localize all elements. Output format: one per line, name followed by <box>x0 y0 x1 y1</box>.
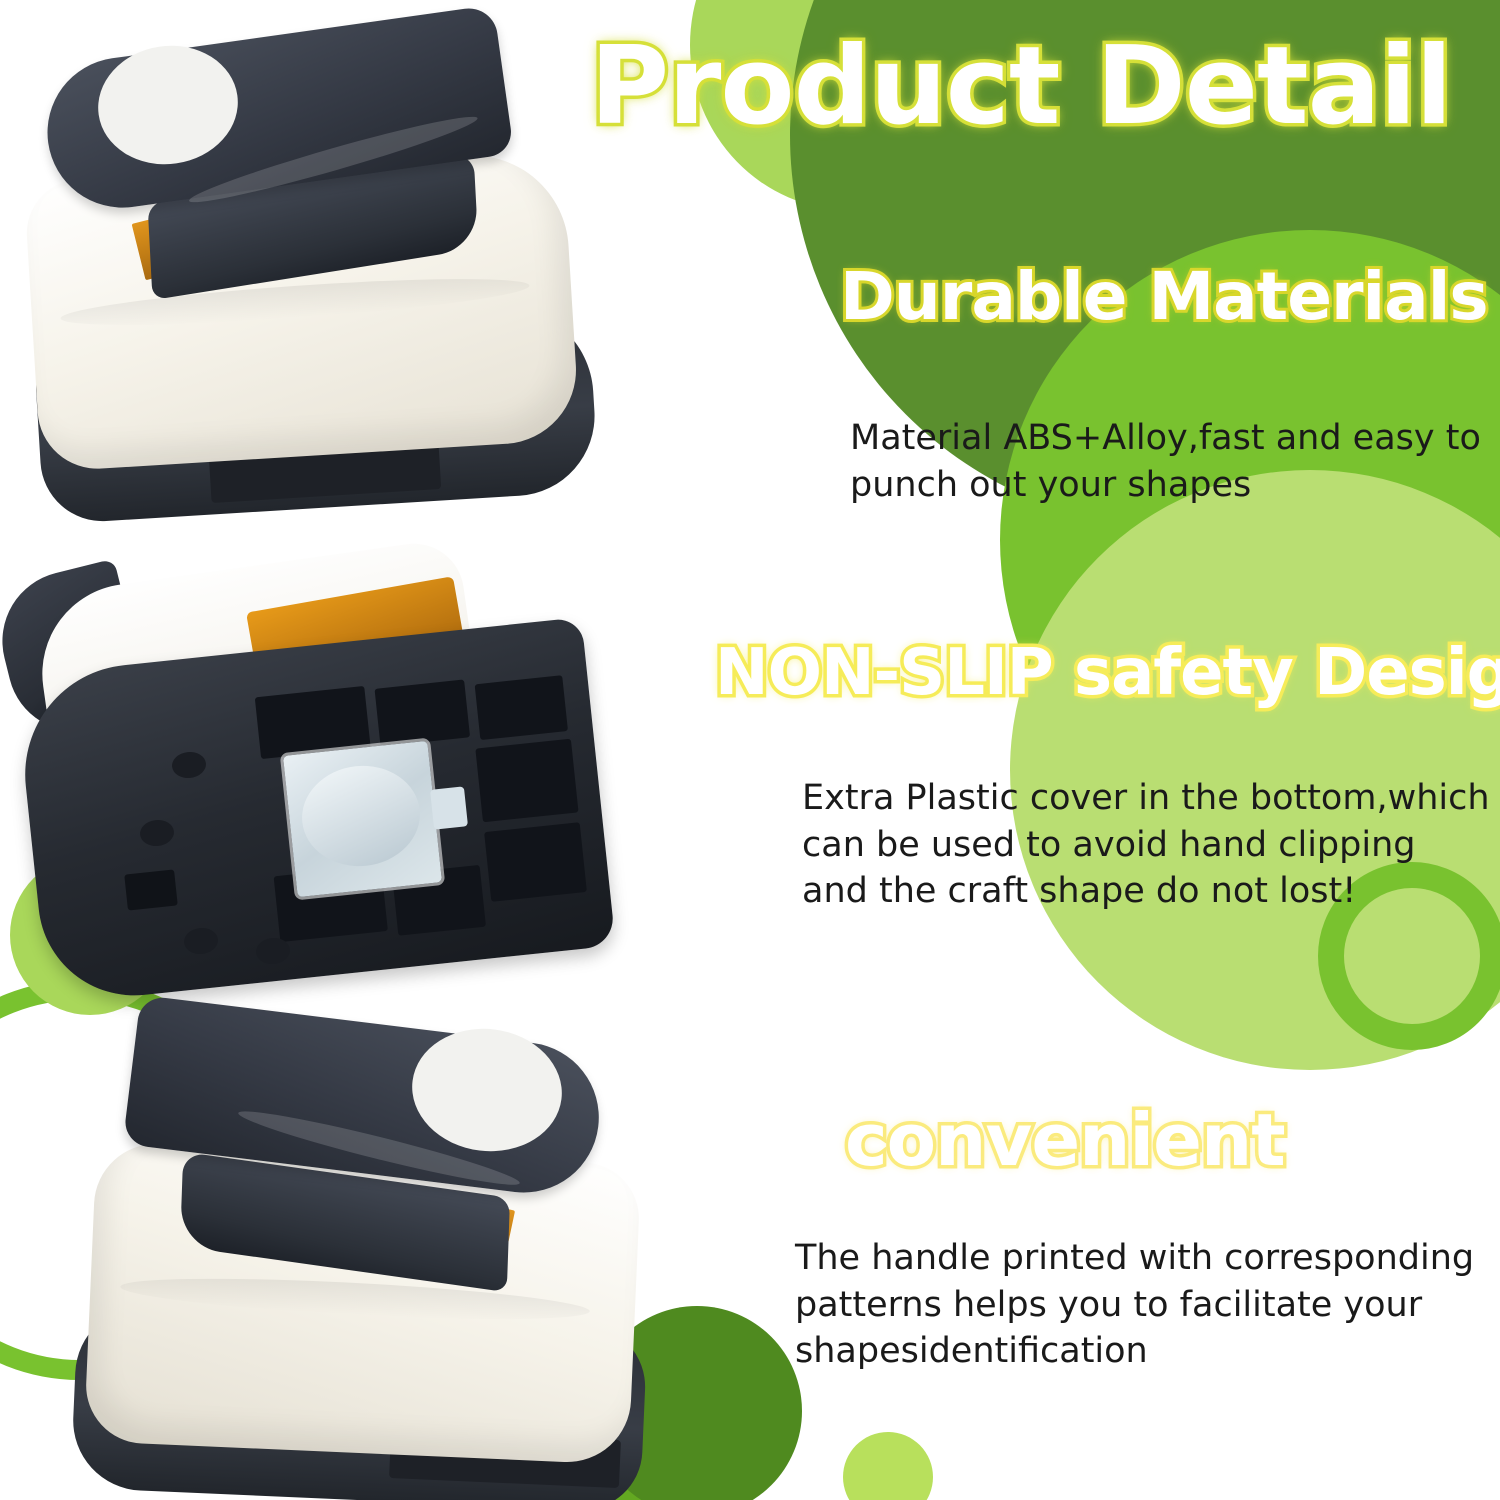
section-heading-non-slip-safety-design: NON-SLIP safety Design <box>715 636 1500 710</box>
section-body-durable-materials: Material ABS+Alloy,fast and easy to punc… <box>850 415 1500 508</box>
product-image-bottom-view <box>0 570 640 1020</box>
punch-plastic-cover-tab <box>430 786 468 829</box>
page-title: Product Detail <box>590 30 1452 143</box>
product-image-mirrored-view <box>60 1015 700 1500</box>
punch-bottom-vent <box>124 869 177 910</box>
product-detail-infographic: Product Detail Durable Materials Materia… <box>0 0 1500 1500</box>
section-heading-durable-materials: Durable Materials <box>840 258 1488 335</box>
section-body-non-slip-safety-design: Extra Plastic cover in the bottom,which … <box>802 775 1500 915</box>
section-body-convenient: The handle printed with corresponding pa… <box>795 1235 1495 1375</box>
product-image-angled-view <box>20 18 630 528</box>
text-column: Product Detail Durable Materials Materia… <box>760 0 1500 1500</box>
section-heading-convenient: convenient <box>845 1098 1285 1182</box>
